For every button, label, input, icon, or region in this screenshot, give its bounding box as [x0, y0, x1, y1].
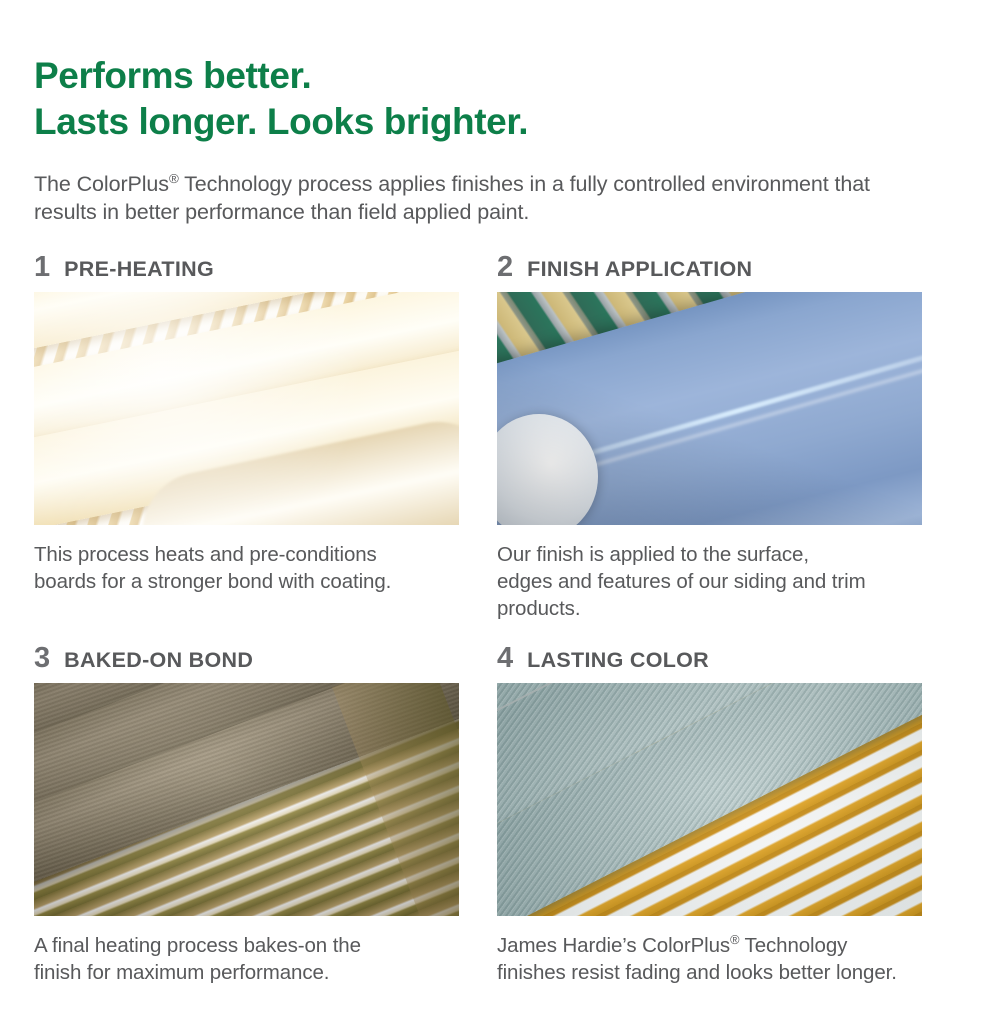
step-2-caption: Our finish is applied to the surface, ed…	[497, 541, 929, 623]
process-step-4: 4 LASTING COLOR James Hardie’s ColorPlus…	[497, 644, 929, 987]
step-4-header: 4 LASTING COLOR	[497, 644, 929, 674]
step-2-title: FINISH APPLICATION	[527, 259, 752, 281]
step-4-title: LASTING COLOR	[527, 650, 709, 672]
step-1-caption: This process heats and pre-conditions bo…	[34, 541, 466, 596]
process-steps-grid: 1 PRE-HEATING This process heats and pre…	[34, 253, 966, 986]
step-4-number: 4	[497, 644, 513, 673]
lasting-color-photo	[497, 683, 922, 916]
photo-shadow-overlay	[497, 292, 922, 525]
step-4-caption: James Hardie’s ColorPlus® Technology fin…	[497, 932, 929, 987]
photo-glow-overlay	[34, 292, 459, 525]
step-1-number: 1	[34, 253, 50, 282]
step-3-title: BAKED-ON BOND	[64, 650, 253, 672]
intro-text-before-registered: The ColorPlus	[34, 172, 169, 196]
step-1-title: PRE-HEATING	[64, 259, 214, 281]
step-4-caption-before-registered: James Hardie’s ColorPlus	[497, 934, 730, 957]
photo-vignette-overlay	[497, 683, 922, 916]
process-step-1: 1 PRE-HEATING This process heats and pre…	[34, 253, 466, 623]
headline-line-2: Lasts longer. Looks brighter.	[34, 99, 966, 145]
colorplus-process-infographic: Performs better. Lasts longer. Looks bri…	[0, 25, 1000, 1025]
step-3-caption: A final heating process bakes-on the fin…	[34, 932, 466, 987]
step-1-header: 1 PRE-HEATING	[34, 253, 466, 283]
baked-on-bond-photo	[34, 683, 459, 916]
step-3-header: 3 BAKED-ON BOND	[34, 644, 466, 674]
registered-trademark-icon: ®	[169, 171, 179, 186]
headline-line-1: Performs better.	[34, 53, 966, 99]
finish-application-photo	[497, 292, 922, 525]
photo-vignette-overlay	[34, 683, 459, 916]
page-title: Performs better. Lasts longer. Looks bri…	[34, 25, 966, 146]
step-3-number: 3	[34, 644, 50, 673]
intro-paragraph: The ColorPlus® Technology process applie…	[34, 170, 934, 227]
registered-trademark-icon: ®	[730, 932, 739, 947]
step-2-header: 2 FINISH APPLICATION	[497, 253, 929, 283]
step-2-number: 2	[497, 253, 513, 282]
process-step-2: 2 FINISH APPLICATION Our finish is appli…	[497, 253, 929, 623]
preheating-photo	[34, 292, 459, 525]
process-step-3: 3 BAKED-ON BOND A final heating process …	[34, 644, 466, 987]
